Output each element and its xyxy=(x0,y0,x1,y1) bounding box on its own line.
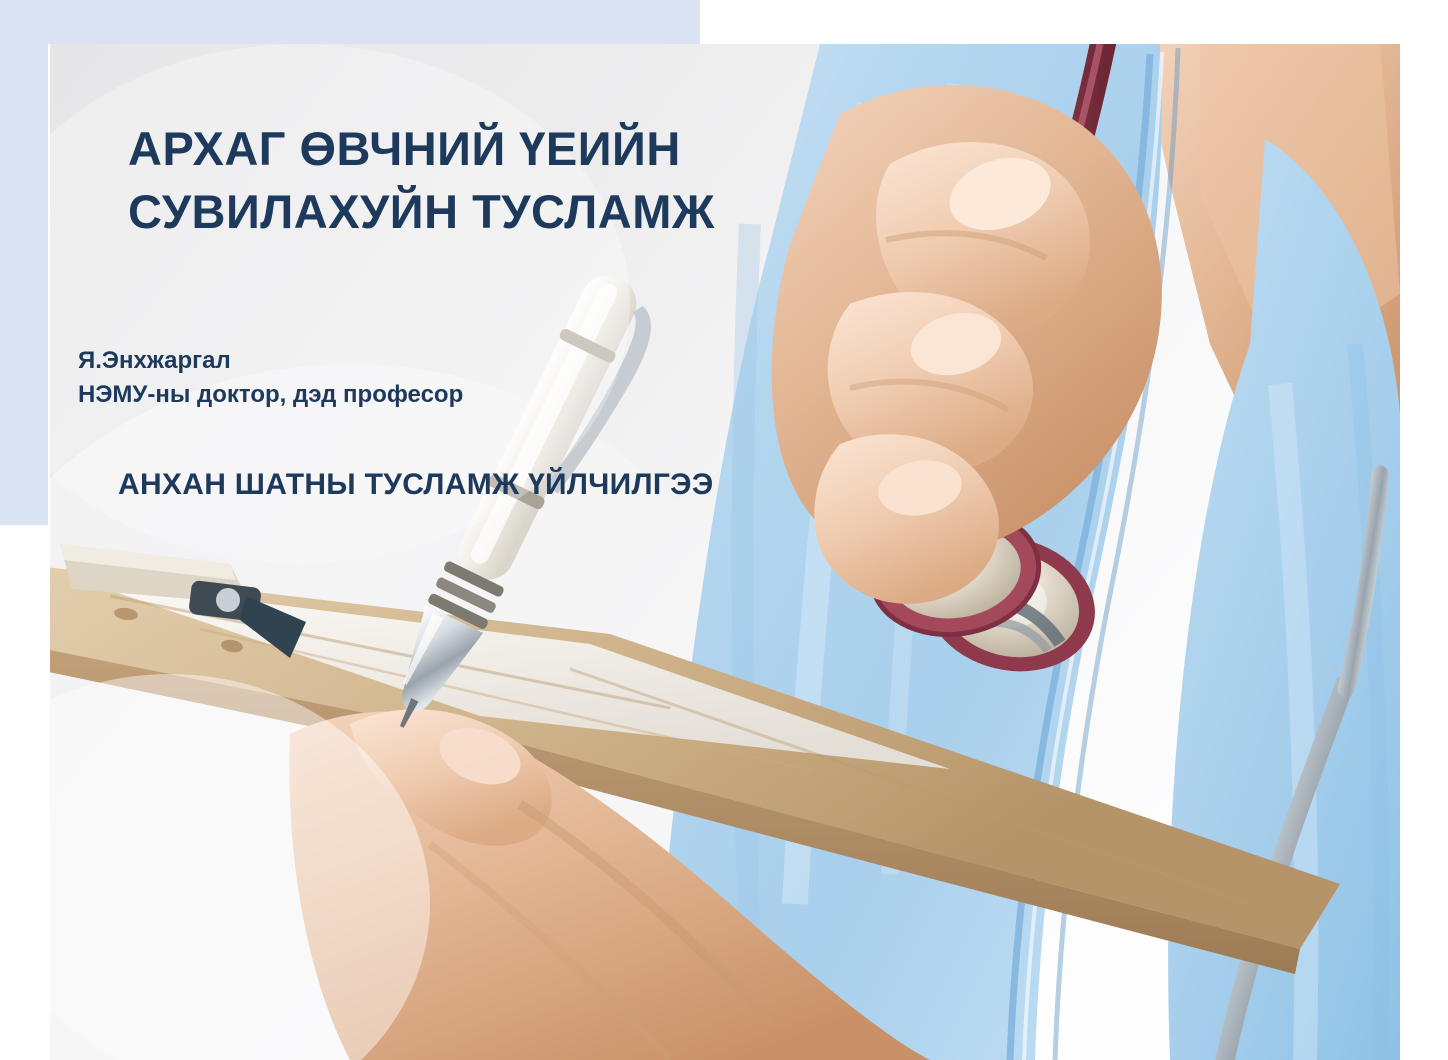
author-credentials: НЭМУ-ны доктор, дэд професор xyxy=(78,378,698,412)
presentation-slide: АРХАГ ӨВЧНИЙ ҮЕИЙН СУВИЛАХУЙН ТУСЛАМЖ Я.… xyxy=(0,0,1448,1060)
page-title: АРХАГ ӨВЧНИЙ ҮЕИЙН СУВИЛАХУЙН ТУСЛАМЖ xyxy=(128,118,888,243)
slide-text-overlay: АРХАГ ӨВЧНИЙ ҮЕИЙН СУВИЛАХУЙН ТУСЛАМЖ Я.… xyxy=(0,0,1448,1060)
author-block: Я.Энхжаргал НЭМУ-ны доктор, дэд професор xyxy=(78,344,698,412)
author-name: Я.Энхжаргал xyxy=(78,344,698,378)
subject-line: АНХАН ШАТНЫ ТУСЛАМЖ ҮЙЛЧИЛГЭЭ xyxy=(118,468,998,502)
